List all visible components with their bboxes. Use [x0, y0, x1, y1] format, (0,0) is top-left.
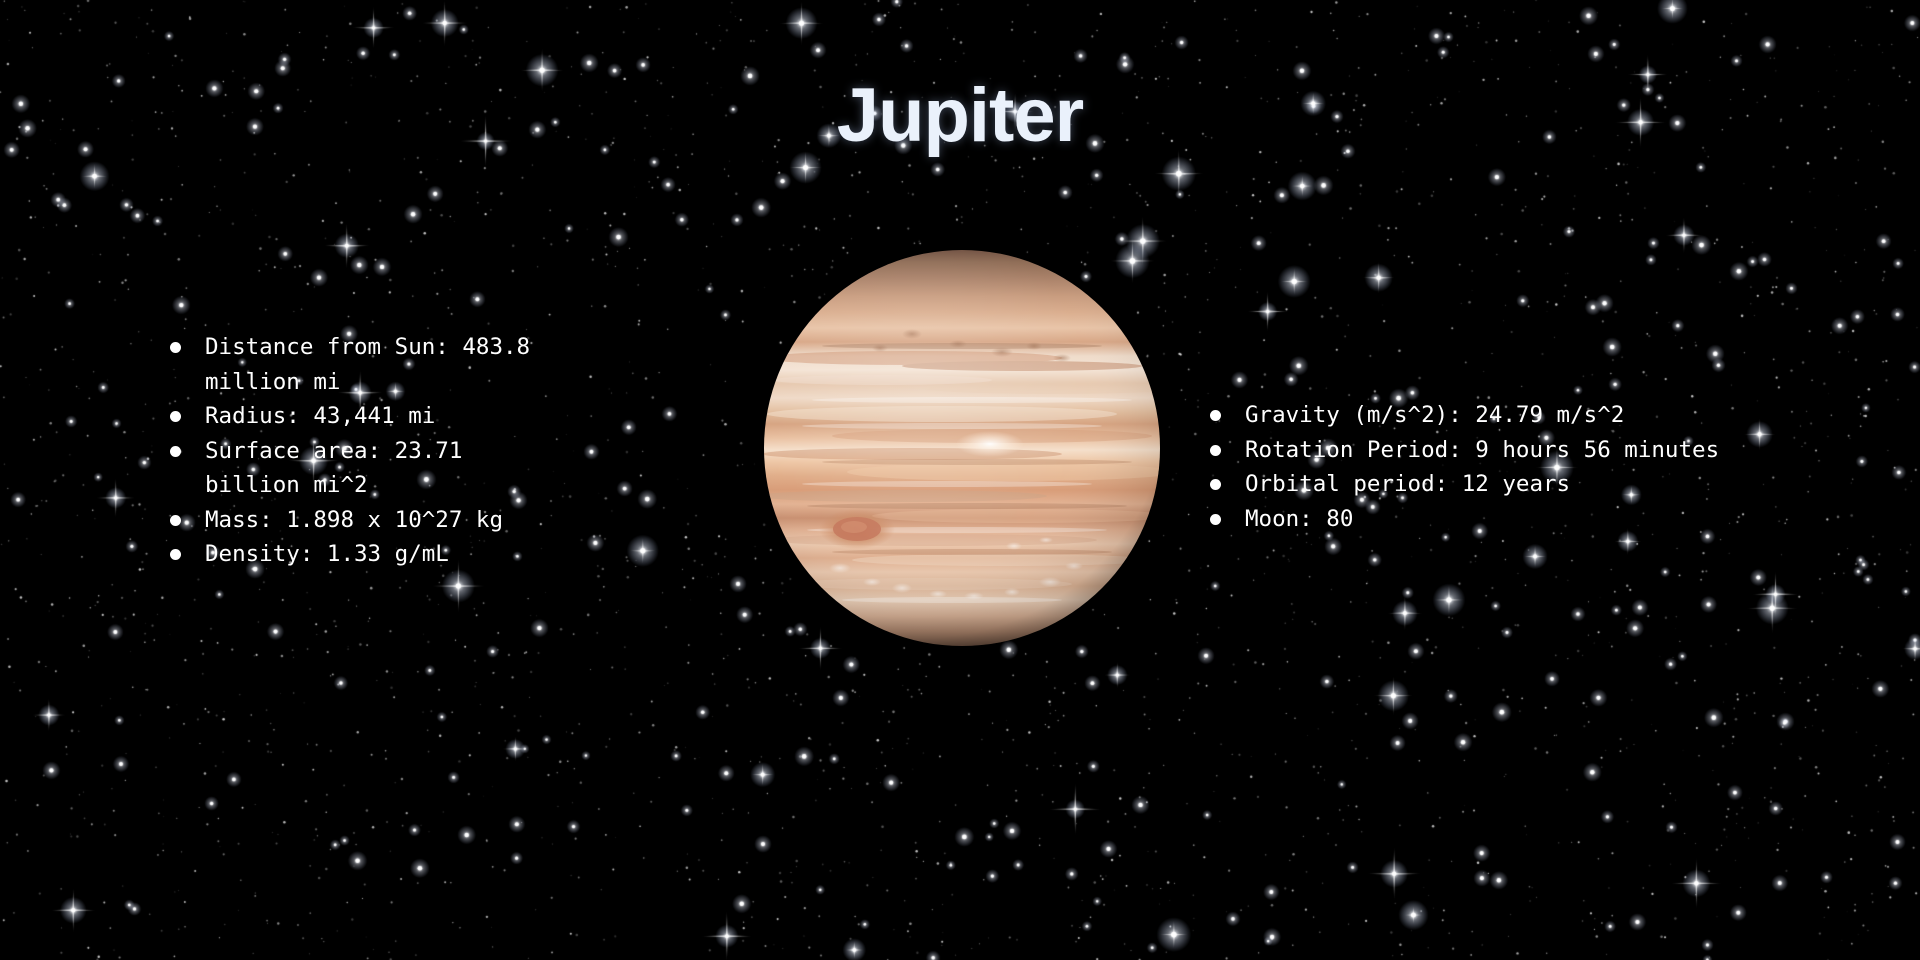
fact-text: Rotation Period: 9 hours 56 minutes — [1245, 437, 1719, 463]
list-item: Rotation Period: 9 hours 56 minutes — [1245, 433, 1905, 468]
bullet-icon — [1210, 410, 1221, 421]
bullet-icon — [1210, 445, 1221, 456]
bullet-icon — [170, 342, 181, 353]
list-item: Mass: 1.898 x 10^27 kg — [205, 503, 560, 538]
facts-list-right: Gravity (m/s^2): 24.79 m/s^2 Rotation Pe… — [1245, 398, 1905, 536]
fact-text: Mass: 1.898 x 10^27 kg — [205, 507, 503, 533]
bullet-icon — [1210, 479, 1221, 490]
list-item: Density: 1.33 g/mL — [205, 537, 560, 572]
bullet-icon — [170, 411, 181, 422]
bullet-icon — [170, 446, 181, 457]
facts-list-left: Distance from Sun: 483.8 million mi Radi… — [205, 330, 560, 572]
list-item: Orbital period: 12 years — [1245, 467, 1905, 502]
page-title: Jupiter — [0, 72, 1920, 160]
list-item: Radius: 43,441 mi — [205, 399, 560, 434]
fact-text: Radius: 43,441 mi — [205, 403, 435, 429]
facts-left-ul: Distance from Sun: 483.8 million mi Radi… — [205, 330, 560, 572]
list-item: Surface area: 23.71 billion mi^2 — [205, 434, 560, 503]
fact-text: Distance from Sun: 483.8 million mi — [205, 334, 530, 395]
list-item: Moon: 80 — [1245, 502, 1905, 537]
planet-surface — [762, 248, 1162, 648]
list-item: Gravity (m/s^2): 24.79 m/s^2 — [1245, 398, 1905, 433]
bullet-icon — [1210, 514, 1221, 525]
fact-text: Gravity (m/s^2): 24.79 m/s^2 — [1245, 402, 1624, 428]
slide-root: Jupiter — [0, 0, 1920, 960]
jupiter-planet-image — [762, 248, 1162, 648]
fact-text: Moon: 80 — [1245, 506, 1353, 532]
fact-text: Density: 1.33 g/mL — [205, 541, 449, 567]
bullet-icon — [170, 515, 181, 526]
list-item: Distance from Sun: 483.8 million mi — [205, 330, 560, 399]
bullet-icon — [170, 549, 181, 560]
fact-text: Orbital period: 12 years — [1245, 471, 1570, 497]
facts-right-ul: Gravity (m/s^2): 24.79 m/s^2 Rotation Pe… — [1245, 398, 1905, 536]
fact-text: Surface area: 23.71 billion mi^2 — [205, 438, 462, 499]
jupiter-svg — [762, 248, 1162, 648]
